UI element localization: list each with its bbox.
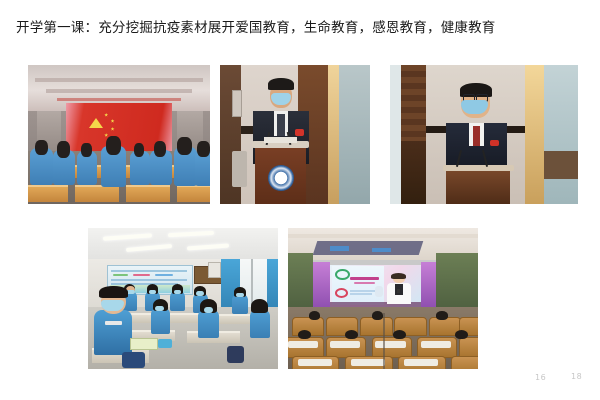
slide-subhead bbox=[354, 282, 376, 284]
wood-base bbox=[401, 141, 425, 204]
student bbox=[250, 310, 271, 338]
student-hair bbox=[154, 141, 167, 156]
party-badge bbox=[295, 129, 304, 136]
face-mask bbox=[236, 293, 244, 297]
slide-headline bbox=[350, 277, 379, 280]
wall-right bbox=[436, 253, 478, 309]
speaker-podium-1-scene bbox=[220, 65, 370, 204]
flag-star-large-icon bbox=[89, 118, 103, 128]
student bbox=[232, 294, 247, 314]
page-title: 开学第一课：充分挖掘抗疫素材展开爱国教育，生命教育，感恩教育，健康教育 bbox=[16, 18, 586, 38]
photo-speaker-podium-2[interactable] bbox=[390, 65, 578, 204]
student-foreground bbox=[94, 310, 132, 355]
photo-flag-classroom[interactable] bbox=[28, 65, 210, 204]
photo-speaker-podium-1[interactable] bbox=[220, 65, 370, 204]
ceiling-light bbox=[330, 246, 349, 250]
backpack bbox=[122, 352, 145, 368]
slide-figure bbox=[375, 286, 382, 297]
student bbox=[170, 291, 185, 311]
slide-text-line bbox=[350, 290, 377, 292]
chart-line bbox=[111, 270, 186, 272]
audience-head bbox=[393, 330, 406, 340]
face-mask bbox=[155, 306, 165, 312]
ceiling-light bbox=[372, 248, 391, 252]
chart-line bbox=[111, 279, 186, 281]
slide-canvas: 开学第一课：充分挖掘抗疫素材展开爱国教育，生命教育，感恩教育，健康教育 bbox=[0, 0, 600, 400]
photo-auditorium[interactable] bbox=[288, 228, 478, 369]
presentation-screen bbox=[330, 265, 421, 307]
ceiling-molding bbox=[288, 234, 478, 238]
speaker-tie bbox=[473, 126, 481, 145]
seat-cover bbox=[351, 359, 385, 366]
page-annotation-left: 16 bbox=[535, 373, 546, 382]
auditorium-scene bbox=[288, 228, 478, 369]
chart-tag bbox=[155, 274, 173, 277]
student-hair bbox=[81, 143, 92, 157]
student bbox=[151, 308, 170, 333]
ceiling-beam bbox=[46, 89, 192, 93]
speech-papers bbox=[264, 137, 297, 143]
face-mask bbox=[461, 100, 487, 114]
classroom-students-scene bbox=[88, 228, 278, 369]
chart-tag bbox=[133, 274, 150, 277]
chair bbox=[232, 151, 247, 187]
wall-box bbox=[232, 90, 242, 117]
led-panel-right bbox=[421, 262, 436, 309]
audience-head bbox=[372, 311, 383, 319]
seat bbox=[459, 337, 478, 359]
seat-cover bbox=[298, 359, 332, 366]
face-mask bbox=[101, 300, 124, 311]
wall-left bbox=[288, 253, 313, 309]
vest-stripe bbox=[105, 321, 122, 325]
student-hair bbox=[251, 299, 268, 313]
audience-head bbox=[345, 330, 358, 340]
desk bbox=[75, 185, 119, 202]
ceiling-beam bbox=[35, 78, 202, 82]
podium bbox=[446, 168, 510, 204]
seat-cover bbox=[330, 341, 360, 348]
photo-classroom-students[interactable] bbox=[88, 228, 278, 369]
speaker-tie bbox=[277, 114, 285, 136]
led-panel-left bbox=[313, 262, 330, 309]
books bbox=[130, 338, 159, 350]
student-hair bbox=[197, 141, 210, 156]
seat bbox=[360, 317, 392, 336]
wall-left-glass bbox=[390, 65, 401, 204]
face-mask bbox=[196, 291, 204, 295]
chart-tag bbox=[113, 274, 128, 277]
desk bbox=[177, 185, 210, 202]
chart-line bbox=[111, 283, 178, 285]
face-mask bbox=[271, 93, 291, 106]
backpack bbox=[227, 346, 244, 363]
speaker-podium-2-scene bbox=[390, 65, 578, 204]
seat-cover bbox=[288, 341, 318, 348]
audience-head bbox=[436, 311, 447, 319]
seat bbox=[451, 356, 478, 369]
student-hair bbox=[57, 141, 70, 158]
student bbox=[198, 310, 219, 338]
page-annotation-right: 18 bbox=[571, 372, 582, 381]
student-hair bbox=[99, 286, 128, 299]
audience-head bbox=[309, 311, 320, 319]
school-emblem-icon bbox=[268, 165, 294, 191]
presenter-microphone bbox=[397, 289, 400, 293]
face-mask bbox=[204, 307, 214, 313]
furniture-right bbox=[544, 151, 578, 179]
presenter-hair bbox=[391, 273, 407, 279]
seat-cover bbox=[404, 359, 438, 366]
desk bbox=[28, 185, 68, 202]
speaker-hair bbox=[268, 78, 294, 91]
slide-text-line bbox=[350, 293, 372, 295]
podium-top bbox=[443, 165, 514, 171]
water-bucket bbox=[158, 339, 171, 347]
audience-head bbox=[298, 330, 311, 340]
ceiling-beam-red bbox=[57, 98, 181, 101]
flag-classroom-scene bbox=[28, 65, 210, 204]
desk bbox=[126, 185, 170, 202]
gold-trim bbox=[328, 65, 339, 204]
window-right bbox=[544, 65, 578, 204]
aisle-divider bbox=[383, 313, 385, 369]
student-hair bbox=[177, 137, 192, 155]
student-hair bbox=[106, 136, 121, 155]
gold-column bbox=[525, 65, 544, 204]
seat-cover bbox=[421, 341, 451, 348]
seat-cover bbox=[375, 341, 405, 348]
face-mask bbox=[174, 290, 182, 294]
wall-ac-unit bbox=[208, 262, 221, 278]
student-hair bbox=[35, 140, 48, 155]
student-hair bbox=[134, 143, 145, 157]
party-badge bbox=[490, 140, 499, 146]
